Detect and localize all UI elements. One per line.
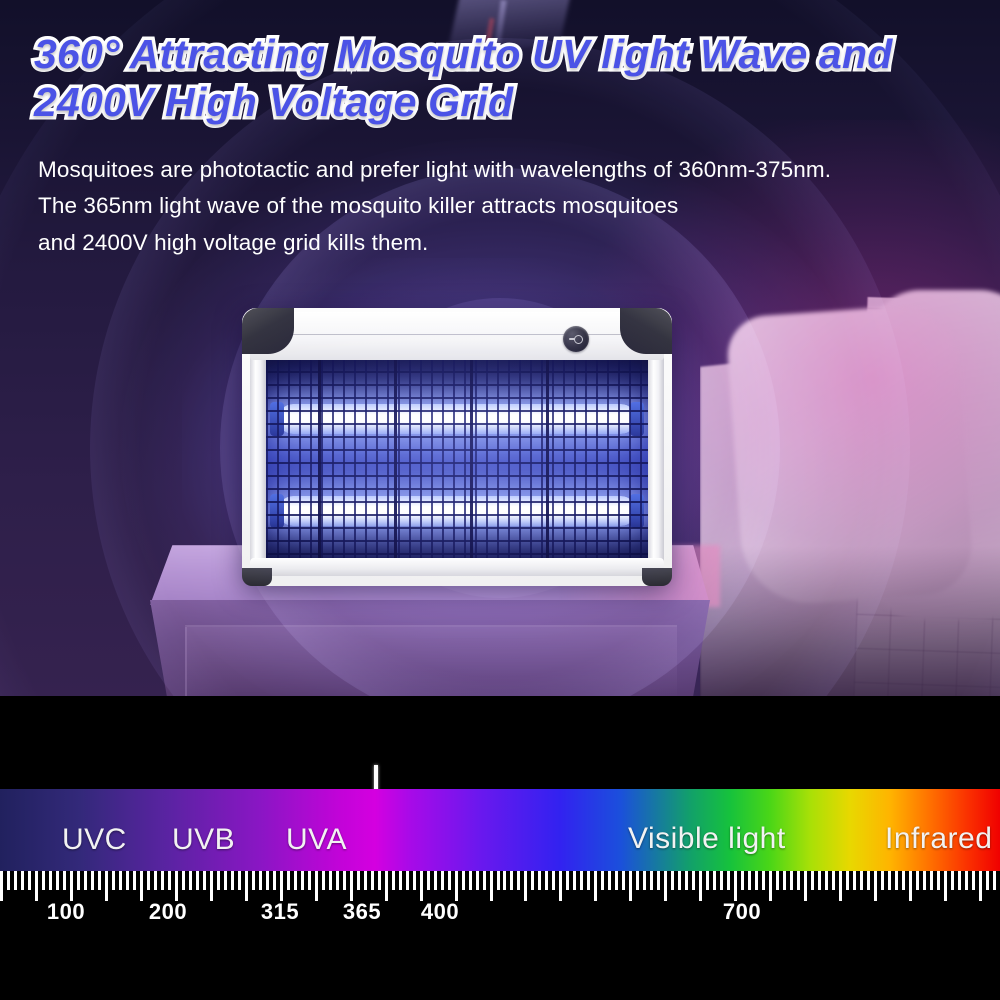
ruler-label-700: 700: [723, 899, 761, 925]
ruler-tick: [720, 871, 723, 890]
ruler-tick: [846, 871, 849, 890]
device-base-panel: [250, 558, 664, 576]
ruler-tick: [888, 871, 891, 890]
description-text: Mosquitoes are phototactic and prefer li…: [38, 152, 938, 261]
ruler-tick: [427, 871, 430, 890]
ruler-tick: [56, 871, 59, 890]
ruler-tick: [867, 871, 870, 890]
ruler-tick: [84, 871, 87, 890]
ruler-tick: [322, 871, 325, 890]
spectrum-label-infrared: Infrared: [885, 822, 992, 856]
spectrum-label-visible-light: Visible light: [628, 822, 786, 856]
ruler-tick: [364, 871, 367, 890]
ruler-tick: [147, 871, 150, 890]
ruler-tick: [308, 871, 311, 890]
ruler-tick: [28, 871, 31, 890]
power-switch[interactable]: [563, 326, 589, 352]
ruler-tick: [755, 871, 758, 890]
ruler-tick: [531, 871, 534, 890]
ruler-tick: [462, 871, 465, 890]
spectrum-label-uva: UVA: [286, 823, 347, 857]
ruler-tick: [224, 871, 227, 890]
ruler-tick: [979, 871, 982, 901]
ruler-tick: [671, 871, 674, 890]
ruler-tick: [343, 871, 346, 890]
ruler-tick: [517, 871, 520, 890]
ruler-tick: [469, 871, 472, 890]
ruler-tick: [266, 871, 269, 890]
ruler-tick: [490, 871, 493, 901]
page-title: 360° Attracting Mosquito UV light Wave a…: [34, 30, 934, 127]
ruler-tick: [594, 871, 597, 901]
ruler-tick: [762, 871, 765, 890]
ruler-label-315: 315: [261, 899, 299, 925]
product-marketing-image: 360° Attracting Mosquito UV light Wave a…: [0, 0, 1000, 1000]
chamber-shading: [266, 356, 648, 568]
ruler-tick: [252, 871, 255, 890]
ruler-tick: [77, 871, 80, 890]
ruler-tick: [392, 871, 395, 890]
ruler-tick: [622, 871, 625, 890]
light-spectrum-bar: [0, 789, 1000, 871]
ruler-tick: [923, 871, 926, 890]
ruler-tick: [49, 871, 52, 890]
ruler-tick: [385, 871, 388, 901]
ruler-tick: [357, 871, 360, 890]
ruler-tick: [329, 871, 332, 890]
ruler-tick: [91, 871, 94, 890]
device-top-panel: [250, 312, 664, 360]
ruler-tick: [818, 871, 821, 890]
headline-line-1: 360° Attracting Mosquito UV light Wave a…: [34, 30, 934, 78]
ruler-tick: [853, 871, 856, 890]
ruler-tick: [259, 871, 262, 890]
ruler-tick: [434, 871, 437, 890]
ruler-tick: [231, 871, 234, 890]
ruler-tick: [42, 871, 45, 890]
ruler-tick: [175, 871, 178, 901]
ruler-tick: [98, 871, 101, 890]
ruler-tick: [196, 871, 199, 890]
nightstand-drawer: [185, 625, 677, 696]
ruler-tick: [294, 871, 297, 890]
ruler-tick: [203, 871, 206, 890]
device-foot-left: [242, 568, 272, 586]
ruler-tick: [63, 871, 66, 890]
ruler-tick: [874, 871, 877, 901]
product-photo-scene: 360° Attracting Mosquito UV light Wave a…: [0, 0, 1000, 696]
ruler-tick: [713, 871, 716, 890]
ruler-tick: [790, 871, 793, 890]
ruler-tick: [958, 871, 961, 890]
ruler-tick: [587, 871, 590, 890]
ruler-tick: [441, 871, 444, 890]
ruler-tick: [699, 871, 702, 901]
ruler-tick: [811, 871, 814, 890]
ruler-tick: [678, 871, 681, 890]
ruler-tick: [832, 871, 835, 890]
ruler-tick: [636, 871, 639, 890]
ruler-tick: [937, 871, 940, 890]
ruler-tick: [315, 871, 318, 901]
ruler-tick: [657, 871, 660, 890]
ruler-tick: [986, 871, 989, 890]
ruler-tick: [371, 871, 374, 890]
ruler-tick: [126, 871, 129, 890]
ruler-tick: [909, 871, 912, 901]
ruler-tick: [112, 871, 115, 890]
ruler-tick: [580, 871, 583, 890]
ruler-tick: [105, 871, 108, 901]
ruler-tick: [503, 871, 506, 890]
ruler-tick: [993, 871, 996, 890]
device-rail-left: [250, 350, 266, 570]
uv-chamber: [266, 356, 648, 568]
ruler-tick: [510, 871, 513, 890]
body-line-2: The 365nm light wave of the mosquito kil…: [38, 188, 938, 224]
ruler-tick: [189, 871, 192, 890]
ruler-tick: [154, 871, 157, 890]
ruler-tick: [629, 871, 632, 901]
ruler-tick: [140, 871, 143, 901]
ruler-tick: [566, 871, 569, 890]
ruler-tick: [35, 871, 38, 901]
body-line-3: and 2400V high voltage grid kills them.: [38, 225, 938, 261]
ruler-tick: [350, 871, 353, 901]
ruler-tick: [182, 871, 185, 890]
switch-off-icon: [574, 335, 583, 344]
ruler-tick: [455, 871, 458, 901]
ruler-tick: [273, 871, 276, 890]
spectrum-label-uvc: UVC: [62, 823, 127, 857]
ruler-tick: [776, 871, 779, 890]
corner-cap-top-right: [620, 308, 672, 354]
ruler-tick: [406, 871, 409, 890]
ruler-tick: [7, 871, 10, 890]
ruler-tick: [0, 871, 3, 901]
ruler-tick: [280, 871, 283, 901]
ruler-tick: [804, 871, 807, 901]
ruler-label-100: 100: [47, 899, 85, 925]
ruler-tick: [14, 871, 17, 890]
ruler-tick: [797, 871, 800, 890]
ruler-tick: [615, 871, 618, 890]
ruler-tick: [413, 871, 416, 890]
panel-seam: [270, 334, 660, 335]
ruler-tick: [860, 871, 863, 890]
ruler-label-200: 200: [149, 899, 187, 925]
ruler-tick: [483, 871, 486, 890]
ruler-tick: [559, 871, 562, 901]
ruler-tick: [524, 871, 527, 901]
ruler-tick: [881, 871, 884, 890]
ruler-tick: [133, 871, 136, 890]
ruler-tick: [287, 871, 290, 890]
ruler-tick: [378, 871, 381, 890]
ruler-tick: [685, 871, 688, 890]
spectrum-label-uvb: UVB: [172, 823, 235, 857]
ruler-tick: [650, 871, 653, 890]
ruler-tick: [245, 871, 248, 901]
ruler-tick: [825, 871, 828, 890]
ruler-tick: [902, 871, 905, 890]
ruler-tick: [706, 871, 709, 890]
body-line-1: Mosquitoes are phototactic and prefer li…: [38, 152, 938, 188]
ruler-tick: [119, 871, 122, 890]
ruler-tick: [420, 871, 423, 901]
ruler-tick: [448, 871, 451, 890]
ruler-tick: [916, 871, 919, 890]
ruler-tick: [545, 871, 548, 890]
ruler-tick: [951, 871, 954, 890]
ruler-tick: [238, 871, 241, 890]
ruler-label-400: 400: [421, 899, 459, 925]
ruler-tick: [399, 871, 402, 890]
ruler-tick: [972, 871, 975, 890]
ruler-tick: [643, 871, 646, 890]
ruler-tick: [930, 871, 933, 890]
ruler-tick: [783, 871, 786, 890]
ruler-tick: [70, 871, 73, 901]
device-foot-right: [642, 568, 672, 586]
headline-line-2: 2400V High Voltage Grid: [34, 78, 934, 126]
ruler-tick: [538, 871, 541, 890]
device-rail-right: [648, 350, 664, 570]
ruler-tick: [727, 871, 730, 890]
ruler-tick: [573, 871, 576, 890]
ruler-tick: [608, 871, 611, 890]
ruler-tick: [741, 871, 744, 890]
ruler-tick: [168, 871, 171, 890]
ruler-tick: [476, 871, 479, 890]
ruler-tick: [839, 871, 842, 901]
ruler-tick: [664, 871, 667, 901]
ruler-tick: [21, 871, 24, 890]
ruler-tick: [217, 871, 220, 890]
ruler-tick: [552, 871, 555, 890]
ruler-tick: [497, 871, 500, 890]
ruler-tick: [895, 871, 898, 890]
ruler-tick: [944, 871, 947, 901]
ruler-tick: [161, 871, 164, 890]
ruler-tick: [301, 871, 304, 890]
ruler-tick: [336, 871, 339, 890]
ruler-tick: [965, 871, 968, 890]
ruler-tick: [748, 871, 751, 890]
ruler-tick: [734, 871, 737, 901]
ruler-tick: [601, 871, 604, 890]
ruler-tick: [769, 871, 772, 901]
ruler-label-365: 365: [343, 899, 381, 925]
ruler-tick: [210, 871, 213, 901]
ruler-tick: [692, 871, 695, 890]
uv-mosquito-killer-lamp: [242, 308, 672, 586]
